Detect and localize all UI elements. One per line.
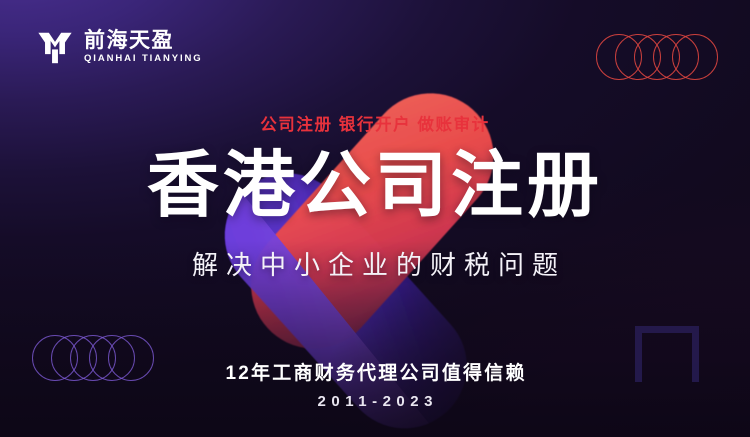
service-eyebrow: 公司注册 银行开户 做账审计 bbox=[0, 111, 750, 135]
brand-logo-text: 前海天盈 QIANHAI TIANYING bbox=[84, 30, 203, 66]
promo-banner: 前海天盈 QIANHAI TIANYING 公司注册 银行开户 做账审计 香港公… bbox=[0, 0, 750, 437]
brand-name-en: QIANHAI TIANYING bbox=[84, 52, 203, 66]
years-range: 2011-2023 bbox=[0, 393, 750, 410]
banner-subheadline: 解决中小企业的财税问题 bbox=[0, 249, 750, 282]
trident-logo-icon bbox=[36, 29, 74, 67]
trust-tagline: 12年工商财务代理公司值得信赖 bbox=[0, 358, 750, 385]
brand-logo: 前海天盈 QIANHAI TIANYING bbox=[36, 29, 203, 67]
banner-headline: 香港公司注册 bbox=[0, 150, 750, 222]
brand-name-cn: 前海天盈 bbox=[84, 30, 203, 52]
